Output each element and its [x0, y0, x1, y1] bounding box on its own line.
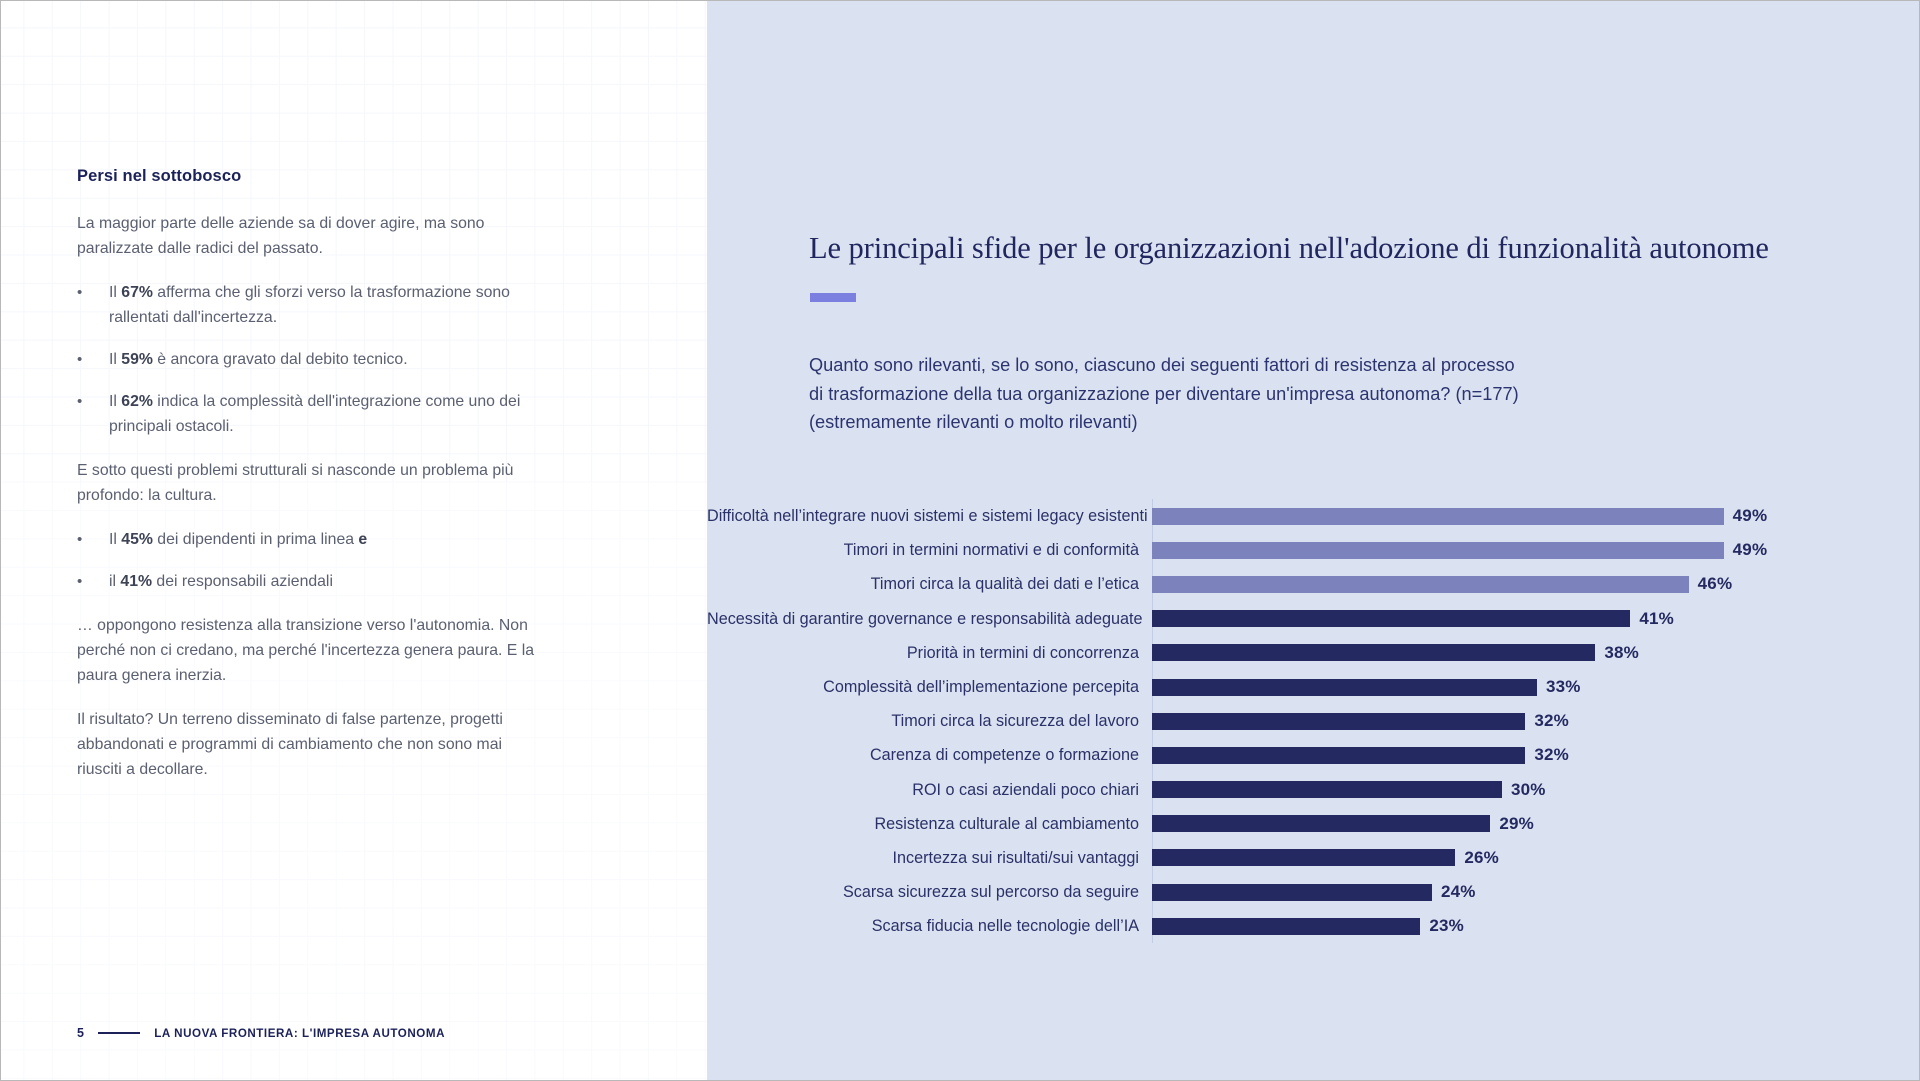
bar [1152, 679, 1537, 696]
list-item-value: 67% [121, 284, 153, 301]
bar-chart-row: Scarsa fiducia nelle tecnologie dell’IA2… [707, 909, 1920, 943]
bar [1152, 713, 1525, 730]
bar-track: 26% [1152, 841, 1920, 875]
bar-value-label: 49% [1733, 506, 1768, 526]
list-item-post: dei dipendenti in prima linea [153, 531, 359, 548]
bullet-list-cultural: • Il 45% dei dipendenti in prima linea e… [77, 527, 547, 594]
left-text-column: Persi nel sottobosco La maggior parte de… [77, 167, 547, 801]
bar-value-label: 38% [1604, 643, 1639, 663]
bar-track: 38% [1152, 636, 1920, 670]
bar-chart-row: Carenza di competenze o formazione32% [707, 738, 1920, 772]
bar-chart: Difficoltà nell’integrare nuovi sistemi … [707, 499, 1920, 943]
bar-category-label: Scarsa fiducia nelle tecnologie dell’IA [707, 916, 1152, 936]
bar [1152, 781, 1502, 798]
bar-track: 41% [1152, 602, 1920, 636]
bullet-dot: • [77, 569, 109, 594]
bar [1152, 508, 1724, 525]
bar-category-label: Incertezza sui risultati/sui vantaggi [707, 848, 1152, 868]
footer-document-title: LA NUOVA FRONTIERA: L'IMPRESA AUTONOMA [154, 1027, 445, 1040]
bullet-dot: • [77, 527, 109, 552]
list-item-text: Il 62% indica la complessità dell'integr… [109, 389, 547, 439]
bar-track: 29% [1152, 807, 1920, 841]
list-item-value: 45% [121, 531, 153, 548]
bar-track: 46% [1152, 567, 1920, 601]
bar-track: 24% [1152, 875, 1920, 909]
bar-chart-row: Scarsa sicurezza sul percorso da seguire… [707, 875, 1920, 909]
bar-track: 33% [1152, 670, 1920, 704]
bar-value-label: 23% [1429, 916, 1464, 936]
bullet-dot: • [77, 280, 109, 330]
bar-category-label: Timori in termini normativi e di conform… [707, 540, 1152, 560]
list-item: • Il 67% afferma che gli sforzi verso la… [77, 280, 547, 330]
bar-chart-row: ROI o casi aziendali poco chiari30% [707, 773, 1920, 807]
culture-paragraph: E sotto questi problemi strutturali si n… [77, 458, 547, 508]
list-item: • Il 45% dei dipendenti in prima linea e [77, 527, 547, 552]
bullet-dot: • [77, 389, 109, 439]
list-item-value: 41% [120, 573, 152, 590]
bar-category-label: Necessità di garantire governance e resp… [707, 609, 1152, 629]
resistance-paragraph: … oppongono resistenza alla transizione … [77, 613, 547, 688]
footer-rule [98, 1032, 140, 1034]
list-item-pre: Il [109, 284, 121, 301]
list-item-pre: il [109, 573, 120, 590]
bar-track: 30% [1152, 773, 1920, 807]
bar [1152, 918, 1420, 935]
bar-value-label: 33% [1546, 677, 1581, 697]
bar-category-label: Difficoltà nell’integrare nuovi sistemi … [707, 506, 1152, 526]
bar [1152, 576, 1689, 593]
bar-track: 23% [1152, 909, 1920, 943]
list-item-post: dei responsabili aziendali [152, 573, 333, 590]
list-item-pre: Il [109, 351, 121, 368]
bar [1152, 542, 1724, 559]
bar-chart-row: Necessità di garantire governance e resp… [707, 602, 1920, 636]
bar [1152, 747, 1525, 764]
list-item-post: è ancora gravato dal debito tecnico. [153, 351, 408, 368]
bar-value-label: 29% [1499, 814, 1534, 834]
bar-track: 49% [1152, 533, 1920, 567]
bar-chart-row: Timori in termini normativi e di conform… [707, 533, 1920, 567]
bullet-list-structural: • Il 67% afferma che gli sforzi verso la… [77, 280, 547, 439]
chart-subtitle: Quanto sono rilevanti, se lo sono, ciasc… [809, 351, 1729, 437]
section-kicker: Persi nel sottobosco [77, 167, 547, 186]
bar [1152, 884, 1432, 901]
list-item-conjunction: e [358, 531, 367, 548]
title-accent-bar [810, 293, 856, 302]
list-item-value: 59% [121, 351, 153, 368]
bar-value-label: 46% [1698, 574, 1733, 594]
bar-category-label: Complessità dell’implementazione percepi… [707, 677, 1152, 697]
bar-category-label: ROI o casi aziendali poco chiari [707, 780, 1152, 800]
chart-title: Le principali sfide per le organizzazion… [809, 231, 1899, 266]
intro-paragraph: La maggior parte delle aziende sa di dov… [77, 211, 547, 261]
bar-value-label: 49% [1733, 540, 1768, 560]
bar-chart-row: Timori circa la sicurezza del lavoro32% [707, 704, 1920, 738]
bar-value-label: 41% [1639, 609, 1674, 629]
list-item-text: Il 59% è ancora gravato dal debito tecni… [109, 347, 547, 372]
list-item: • Il 62% indica la complessità dell'inte… [77, 389, 547, 439]
bar-track: 32% [1152, 738, 1920, 772]
list-item-post: indica la complessità dell'integrazione … [109, 393, 520, 435]
bar-chart-row: Timori circa la qualità dei dati e l’eti… [707, 567, 1920, 601]
bar-value-label: 30% [1511, 780, 1546, 800]
bar-category-label: Priorità in termini di concorrenza [707, 643, 1152, 663]
bar [1152, 644, 1595, 661]
list-item-text: Il 45% dei dipendenti in prima linea e [109, 527, 547, 552]
bar-category-label: Carenza di competenze o formazione [707, 745, 1152, 765]
bar-value-label: 24% [1441, 882, 1476, 902]
list-item-post: afferma che gli sforzi verso la trasform… [109, 284, 510, 326]
page-footer: 5 LA NUOVA FRONTIERA: L'IMPRESA AUTONOMA [77, 1026, 445, 1040]
bar-chart-row: Priorità in termini di concorrenza38% [707, 636, 1920, 670]
bullet-dot: • [77, 347, 109, 372]
bar-chart-row: Incertezza sui risultati/sui vantaggi26% [707, 841, 1920, 875]
page-root: Persi nel sottobosco La maggior parte de… [0, 0, 1920, 1081]
bar-value-label: 32% [1534, 745, 1569, 765]
bar-category-label: Timori circa la qualità dei dati e l’eti… [707, 574, 1152, 594]
list-item: • il 41% dei responsabili aziendali [77, 569, 547, 594]
list-item-pre: Il [109, 393, 121, 410]
left-page: Persi nel sottobosco La maggior parte de… [1, 1, 707, 1081]
bar-track: 32% [1152, 704, 1920, 738]
bar-category-label: Scarsa sicurezza sul percorso da seguire [707, 882, 1152, 902]
bar-value-label: 32% [1534, 711, 1569, 731]
bar-category-label: Resistenza culturale al cambiamento [707, 814, 1152, 834]
list-item: • Il 59% è ancora gravato dal debito tec… [77, 347, 547, 372]
bar-chart-rows: Difficoltà nell’integrare nuovi sistemi … [707, 499, 1920, 943]
bar-value-label: 26% [1464, 848, 1499, 868]
bar [1152, 849, 1455, 866]
list-item-value: 62% [121, 393, 153, 410]
chart-panel: Le principali sfide per le organizzazion… [707, 1, 1920, 1081]
footer-page-number: 5 [77, 1026, 84, 1040]
bar-track: 49% [1152, 499, 1920, 533]
bar [1152, 610, 1630, 627]
list-item-text: Il 67% afferma che gli sforzi verso la t… [109, 280, 547, 330]
bar [1152, 815, 1490, 832]
bar-chart-row: Difficoltà nell’integrare nuovi sistemi … [707, 499, 1920, 533]
bar-chart-row: Resistenza culturale al cambiamento29% [707, 807, 1920, 841]
result-paragraph: Il risultato? Un terreno disseminato di … [77, 707, 547, 782]
bar-category-label: Timori circa la sicurezza del lavoro [707, 711, 1152, 731]
list-item-pre: Il [109, 531, 121, 548]
list-item-text: il 41% dei responsabili aziendali [109, 569, 547, 594]
bar-chart-row: Complessità dell’implementazione percepi… [707, 670, 1920, 704]
